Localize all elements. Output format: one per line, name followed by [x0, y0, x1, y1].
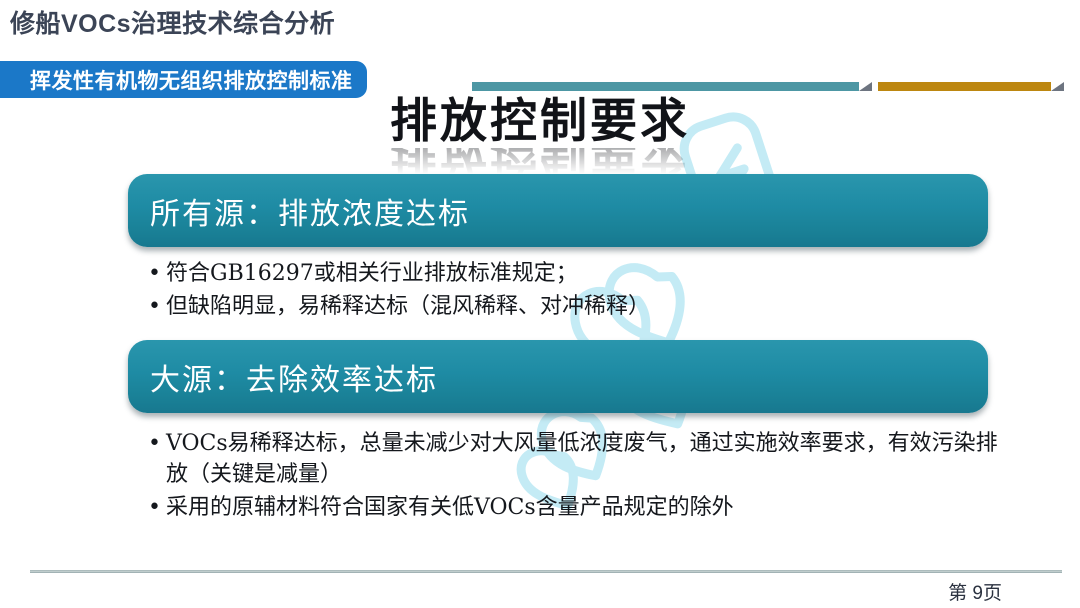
header-rule-gold-body	[878, 82, 1051, 91]
banner-large-sources: 大源：去除效率达标	[128, 340, 988, 413]
banner-all-sources: 所有源：排放浓度达标	[128, 174, 988, 247]
bullet-marker-icon: •	[148, 258, 166, 289]
header-rule-teal-body	[472, 82, 859, 91]
slide-title-block: 排放控制要求 排放控制要求	[0, 98, 1080, 174]
section-tab-label: 挥发性有机物无组织排放控制标准	[30, 65, 353, 95]
list-item: • 采用的原辅材料符合国家有关低VOCs含量产品规定的除外	[148, 492, 998, 523]
list-item: • 符合GB16297或相关行业排放标准规定；	[148, 258, 998, 289]
list-item-text: 但缺陷明显，易稀释达标（混风稀释、对冲稀释）	[166, 291, 998, 322]
slide-title-reflection: 排放控制要求	[0, 148, 1080, 174]
list-item-text: VOCs易稀释达标，总量未减少对大风量低浓度废气，通过实施效率要求，有效污染排放…	[166, 428, 998, 490]
header-rule-gold	[878, 82, 1064, 91]
banner-all-sources-label: 所有源：排放浓度达标	[150, 189, 470, 233]
bullet-list-all-sources: • 符合GB16297或相关行业排放标准规定； • 但缺陷明显，易稀释达标（混风…	[148, 258, 998, 324]
header-rule-teal-cap	[859, 82, 872, 91]
page-number: 第 9页	[948, 578, 1002, 605]
banner-large-sources-label: 大源：去除效率达标	[150, 355, 438, 399]
list-item: • 但缺陷明显，易稀释达标（混风稀释、对冲稀释）	[148, 291, 998, 322]
bullet-marker-icon: •	[148, 492, 166, 523]
bullet-marker-icon: •	[148, 291, 166, 322]
bullet-marker-icon: •	[148, 428, 166, 459]
section-tab: 挥发性有机物无组织排放控制标准	[0, 61, 367, 98]
bullet-list-large-sources: • VOCs易稀释达标，总量未减少对大风量低浓度废气，通过实施效率要求，有效污染…	[148, 428, 998, 526]
list-item-text: 符合GB16297或相关行业排放标准规定；	[166, 258, 998, 289]
list-item-text: 采用的原辅材料符合国家有关低VOCs含量产品规定的除外	[166, 492, 998, 523]
slide-title: 排放控制要求	[0, 98, 1080, 147]
deck-title: 修船VOCs治理技术综合分析	[10, 4, 335, 40]
slide: 修船VOCs治理技术综合分析 挥发性有机物无组织排放控制标准 排放控制要求 排放…	[0, 0, 1080, 608]
footer-divider	[30, 570, 1062, 573]
header-rule-gold-cap	[1051, 82, 1064, 91]
header-rule-teal	[472, 82, 872, 91]
list-item: • VOCs易稀释达标，总量未减少对大风量低浓度废气，通过实施效率要求，有效污染…	[148, 428, 998, 490]
